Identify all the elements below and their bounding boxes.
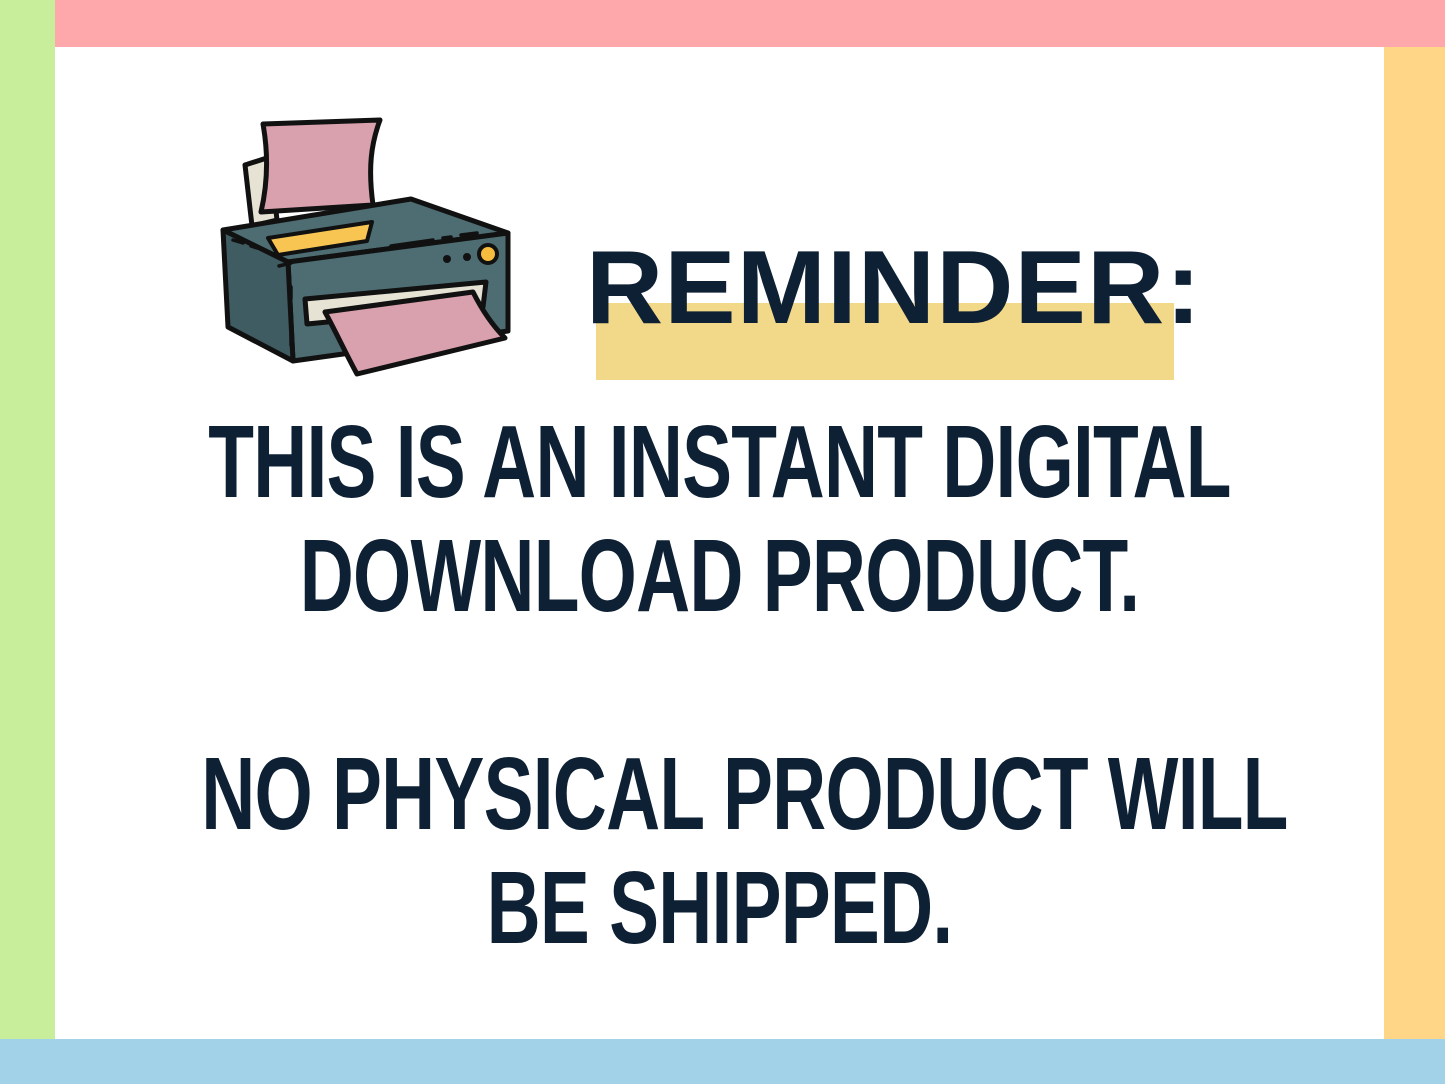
right-orange-border-band	[1384, 47, 1445, 1039]
page-title: REMINDER:	[585, 202, 1203, 340]
bottom-blue-border-band	[0, 1039, 1445, 1084]
message-line-4: BE SHIPPED.	[201, 848, 1238, 970]
printer-illustration	[195, 102, 540, 402]
left-green-border-band	[0, 0, 55, 1039]
message-blank-line	[55, 630, 1384, 734]
reminder-message: THIS IS AN INSTANT DIGITAL DOWNLOAD PROD…	[55, 402, 1384, 962]
heading-block: REMINDER:	[585, 202, 1225, 402]
printer-feed-paper	[261, 120, 380, 212]
printer-power-led	[479, 245, 497, 263]
printer-seam-dash-f	[443, 237, 451, 238]
poster-canvas: REMINDER: THIS IS AN INSTANT DIGITAL DOW…	[0, 0, 1445, 1084]
message-line-3: NO PHYSICAL PRODUCT WILL	[201, 734, 1238, 856]
poster-content-area: REMINDER: THIS IS AN INSTANT DIGITAL DOW…	[55, 47, 1384, 1039]
message-line-2: DOWNLOAD PRODUCT.	[201, 516, 1238, 638]
message-line-1: THIS IS AN INSTANT DIGITAL	[201, 402, 1238, 524]
printer-seam-dash-g	[461, 233, 477, 235]
top-pink-border-band	[55, 0, 1445, 47]
printer-indicator-dot-1	[443, 255, 451, 263]
printer-indicator-dot-2	[463, 253, 471, 261]
printer-seam-dash-b	[251, 246, 257, 248]
